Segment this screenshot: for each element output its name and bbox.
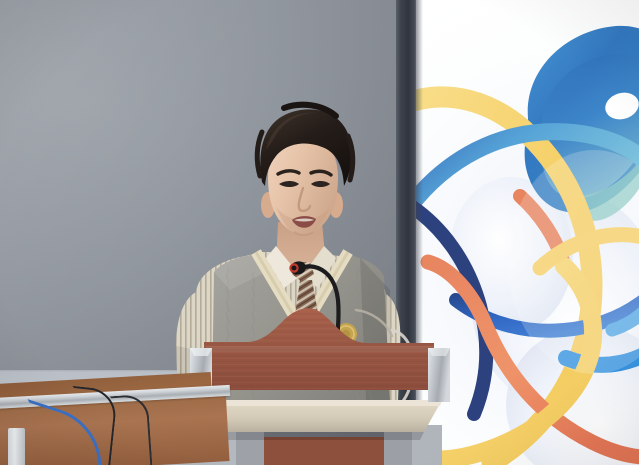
photo-scene: Conference speaker at podium A man in a … [0,0,639,465]
